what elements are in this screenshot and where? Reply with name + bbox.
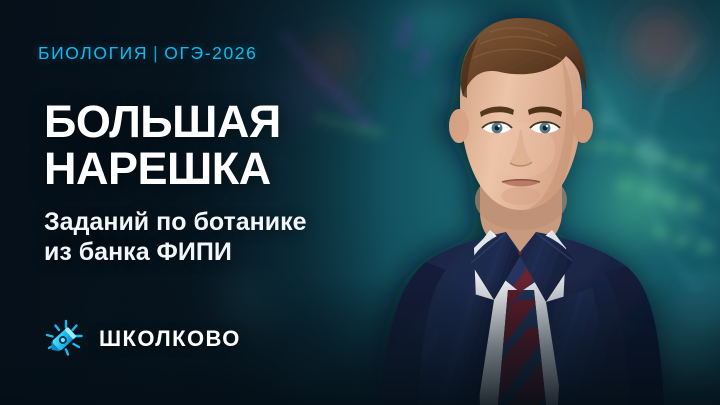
page-subtitle: Заданий по ботанике из банка ФИПИ xyxy=(44,207,307,267)
headline-line-2: НАРЕШКА xyxy=(44,145,281,192)
brand-logo[interactable]: ШКОЛКОВО xyxy=(42,317,241,361)
headline-line-1: БОЛЬШАЯ xyxy=(44,98,281,145)
eyebrow-exam: ОГЭ-2026 xyxy=(164,43,257,63)
subtitle-line-2: из банка ФИПИ xyxy=(44,237,307,267)
promo-banner: БИОЛОГИЯ|ОГЭ-2026 БОЛЬШАЯ НАРЕШКА Задани… xyxy=(0,0,720,405)
subtitle-line-1: Заданий по ботанике xyxy=(44,207,307,237)
banner-content: БИОЛОГИЯ|ОГЭ-2026 БОЛЬШАЯ НАРЕШКА Задани… xyxy=(38,0,368,405)
page-title: БОЛЬШАЯ НАРЕШКА xyxy=(44,98,281,192)
eyebrow-separator: | xyxy=(148,43,164,63)
eyebrow-line: БИОЛОГИЯ|ОГЭ-2026 xyxy=(38,43,257,64)
pencil-spark-icon xyxy=(42,317,86,361)
eyebrow-subject: БИОЛОГИЯ xyxy=(38,43,148,63)
brand-name: ШКОЛКОВО xyxy=(99,326,241,352)
